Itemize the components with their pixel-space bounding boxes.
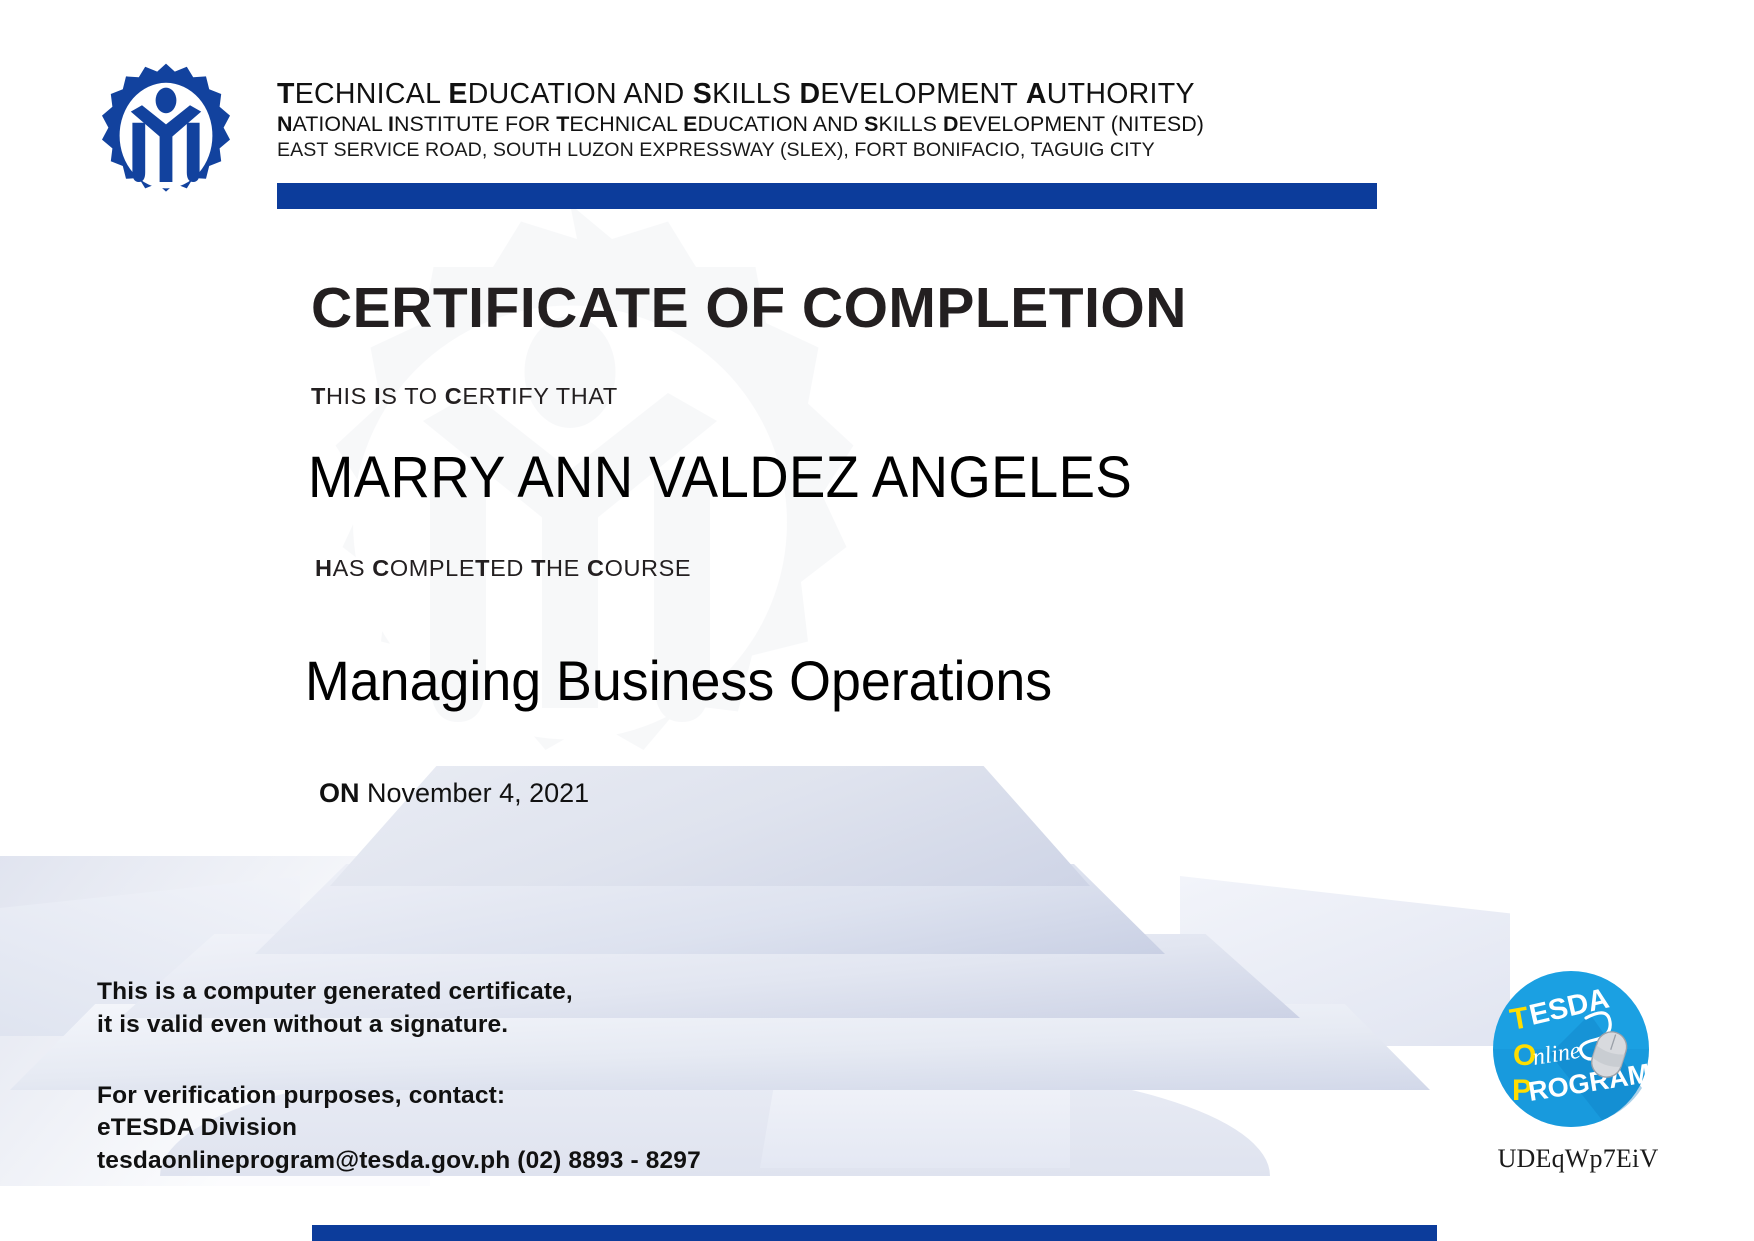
contact-note-line-1: For verification purposes, contact: [97,1080,701,1113]
certificate-header: TECHNICAL EDUCATION AND SKILLS DEVELOPME… [0,0,1754,230]
footer-notes: This is a computer generated certificate… [97,976,701,1178]
verification-code: UDEqWp7EiV [1493,1144,1663,1174]
org-address-line: EAST SERVICE ROAD, SOUTH LUZON EXPRESSWA… [277,140,1387,162]
recipient-name: MARRY ANN VALDEZ ANGELES [308,444,1132,511]
top-logo-icon: T O P ESDA nline ROGRAM [1490,968,1652,1130]
generated-note-line-2: it is valid even without a signature. [97,1009,701,1042]
certify-statement: THIS IS TO CERTIFY THAT [311,383,618,410]
org-institute-line: NATIONAL INSTITUTE FOR TECHNICAL EDUCATI… [277,113,1387,137]
tesda-online-program-logo: T O P ESDA nline ROGRAM [1490,968,1652,1130]
course-name: Managing Business Operations [305,648,1052,713]
date-prefix: ON [319,778,360,808]
generated-note-line-1: This is a computer generated certificate… [97,976,701,1009]
contact-note-line-3: tesdaonlineprogram@tesda.gov.ph (02) 889… [97,1145,701,1178]
header-organization-text: TECHNICAL EDUCATION AND SKILLS DEVELOPME… [277,79,1387,162]
completion-date: ON November 4, 2021 [319,778,589,809]
completed-statement: HAS COMPLETED THE COURSE [315,555,691,582]
notes-spacer [97,1042,701,1080]
footer-blue-rule [312,1225,1437,1241]
date-value: November 4, 2021 [367,778,589,808]
header-blue-rule [277,183,1377,209]
certificate-page: TECHNICAL EDUCATION AND SKILLS DEVELOPME… [0,0,1754,1241]
contact-note-line-2: eTESDA Division [97,1112,701,1145]
page-title: CERTIFICATE OF COMPLETION [311,275,1187,341]
tesda-seal-icon [82,62,250,222]
org-name-line: TECHNICAL EDUCATION AND SKILLS DEVELOPME… [277,79,1387,110]
